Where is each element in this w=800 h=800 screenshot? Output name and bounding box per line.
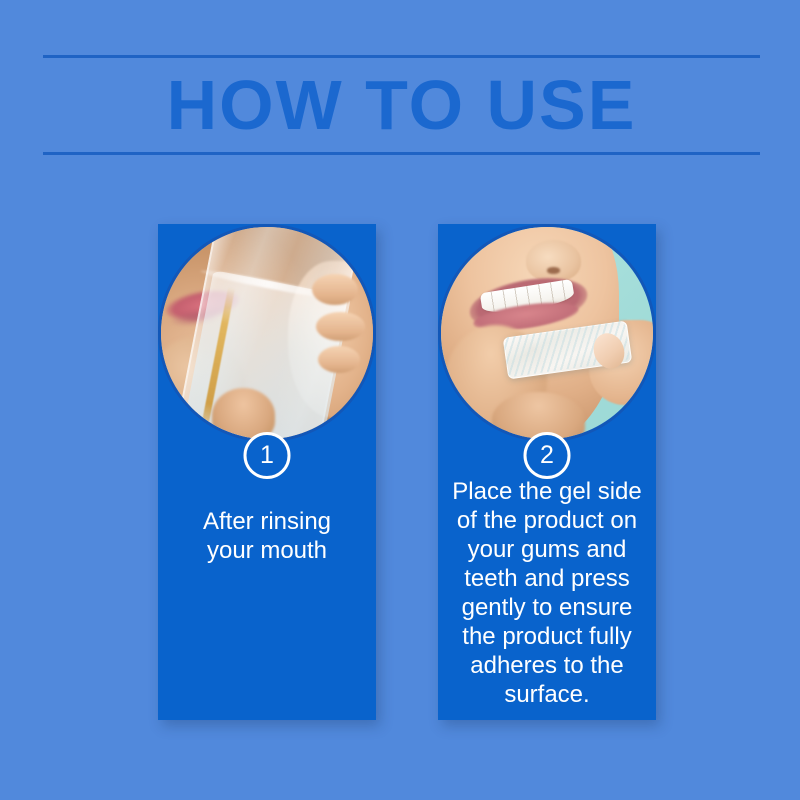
nose-shape [526, 240, 581, 282]
drinking-water-image [161, 227, 373, 439]
page-title: HOW TO USE [43, 55, 760, 155]
step-1-description: After rinsing your mouth [166, 507, 368, 565]
page-header: HOW TO USE [43, 55, 760, 155]
nostril-shape [547, 267, 560, 273]
steps-container: 1 After rinsing your mouth 2 Pl [0, 224, 800, 724]
step-number-badge-1: 1 [244, 432, 291, 479]
step-2-description: Place the gel side of the product on you… [446, 477, 648, 709]
header-divider-bottom [43, 152, 760, 155]
step-card-2: 2 Place the gel side of the product on y… [438, 224, 656, 720]
finger-shape-2 [316, 312, 365, 342]
step-card-1: 1 After rinsing your mouth [158, 224, 376, 720]
step-1-photo [158, 224, 376, 442]
applying-strip-image [441, 227, 653, 439]
step-2-photo [438, 224, 656, 442]
step-number-badge-2: 2 [524, 432, 571, 479]
